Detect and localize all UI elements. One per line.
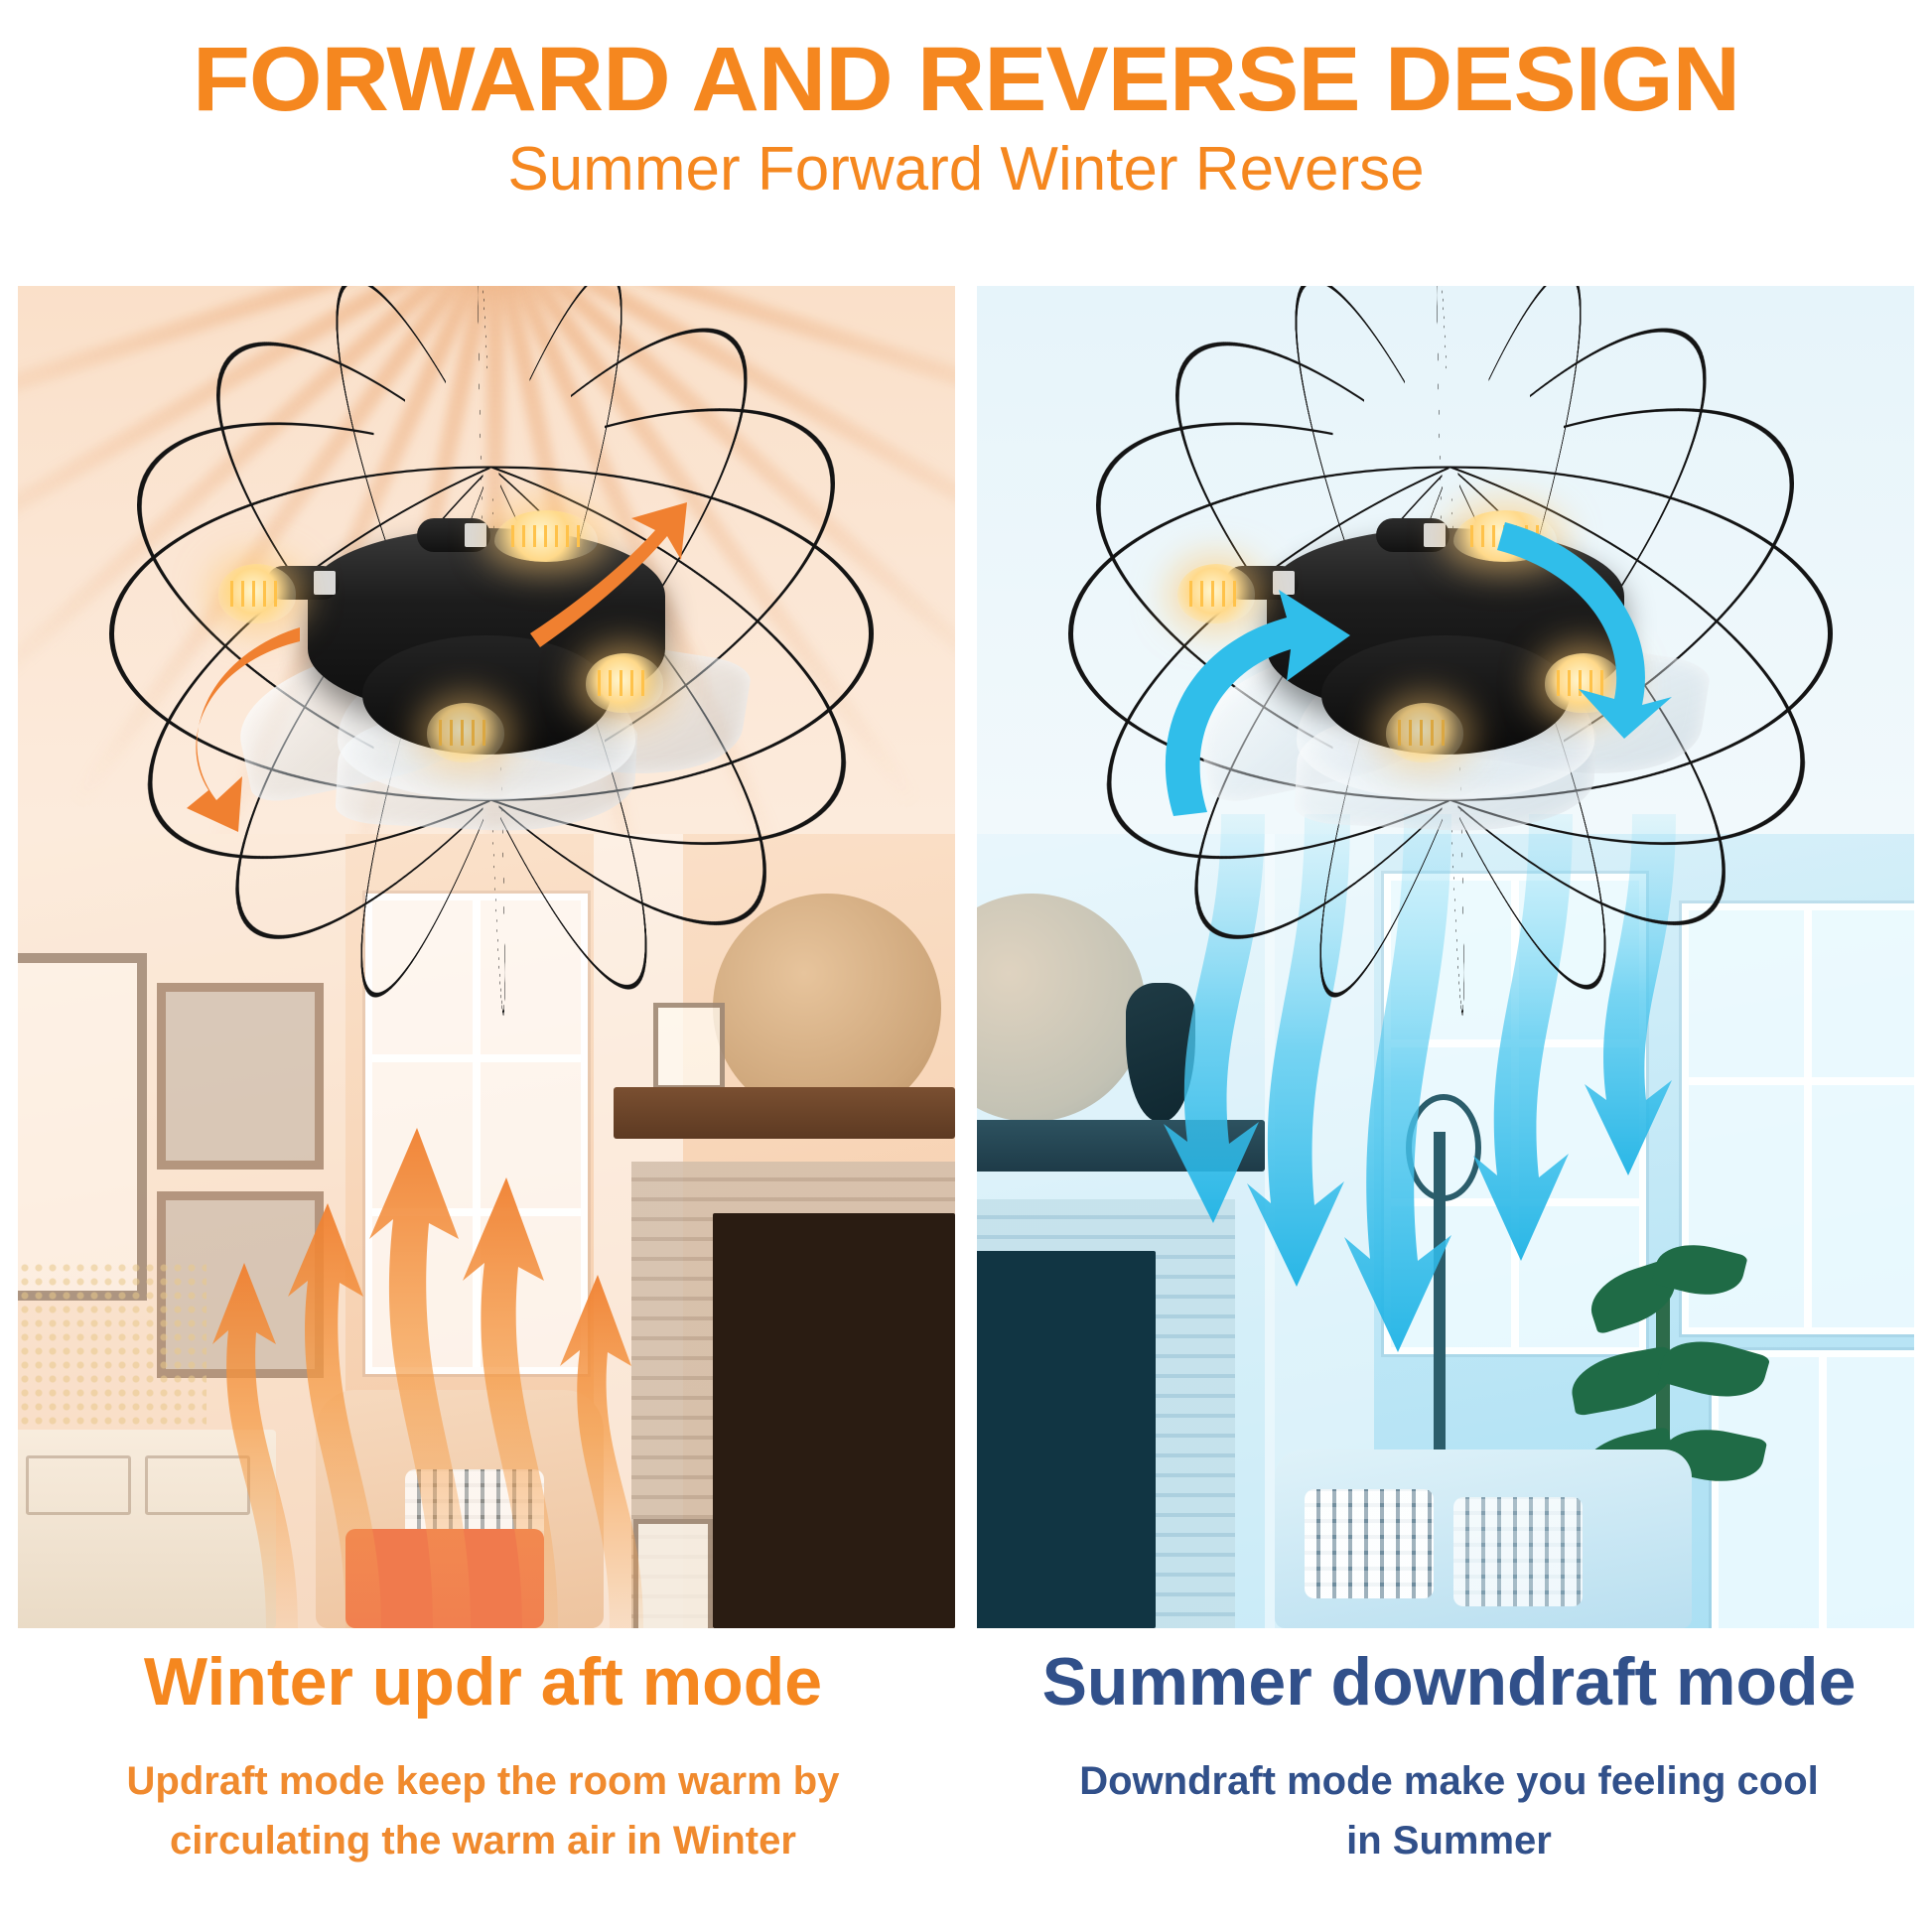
lantern bbox=[653, 1003, 725, 1090]
winter-panel bbox=[18, 286, 955, 1628]
rotation-arrow-left bbox=[1138, 578, 1386, 826]
ceiling-fan-fixture-winter bbox=[89, 353, 884, 909]
floor-lantern bbox=[633, 1519, 713, 1628]
bulb-socket bbox=[417, 518, 490, 552]
rotation-arrow-left bbox=[151, 602, 389, 840]
cool-room-scene bbox=[977, 834, 1914, 1628]
summer-caption-body: Downdraft mode make you feeling cool in … bbox=[1072, 1751, 1827, 1870]
firebox bbox=[977, 1251, 1156, 1628]
rotation-arrow-right bbox=[506, 484, 695, 673]
edison-bulb bbox=[1386, 703, 1463, 762]
firebox bbox=[713, 1213, 955, 1628]
summer-caption: Summer downdraft mode Downdraft mode mak… bbox=[966, 1648, 1932, 1870]
console-table bbox=[18, 1430, 276, 1628]
love-pillow bbox=[345, 1529, 544, 1628]
summer-caption-heading: Summer downdraft mode bbox=[966, 1648, 1932, 1716]
edison-bulb bbox=[427, 703, 504, 762]
floor-lamp-shade bbox=[1406, 1094, 1481, 1201]
comparison-panels bbox=[18, 286, 1914, 1628]
winter-caption-body: Updraft mode keep the room warm by circu… bbox=[106, 1751, 861, 1870]
fireplace-mantel bbox=[614, 1087, 955, 1139]
winter-caption-heading: Winter updr aft mode bbox=[0, 1648, 966, 1716]
bulb-socket bbox=[1376, 518, 1449, 552]
page-subtitle: Summer Forward Winter Reverse bbox=[0, 139, 1932, 201]
ceiling-fan-fixture-summer bbox=[1048, 353, 1843, 909]
captions: Winter updr aft mode Updraft mode keep t… bbox=[0, 1648, 1932, 1932]
plaid-pillow bbox=[1305, 1489, 1434, 1598]
framed-art bbox=[157, 983, 324, 1170]
rotation-arrow-right bbox=[1475, 512, 1704, 741]
page-title: FORWARD AND REVERSE DESIGN bbox=[0, 34, 1932, 125]
infographic-page: FORWARD AND REVERSE DESIGN Summer Forwar… bbox=[0, 0, 1932, 1932]
winter-caption: Winter updr aft mode Updraft mode keep t… bbox=[0, 1648, 966, 1870]
fireplace-mantel bbox=[977, 1120, 1265, 1172]
plaid-pillow bbox=[1453, 1497, 1583, 1606]
summer-panel bbox=[977, 286, 1914, 1628]
wall-mirror bbox=[18, 953, 147, 1301]
warm-room-scene bbox=[18, 834, 955, 1628]
